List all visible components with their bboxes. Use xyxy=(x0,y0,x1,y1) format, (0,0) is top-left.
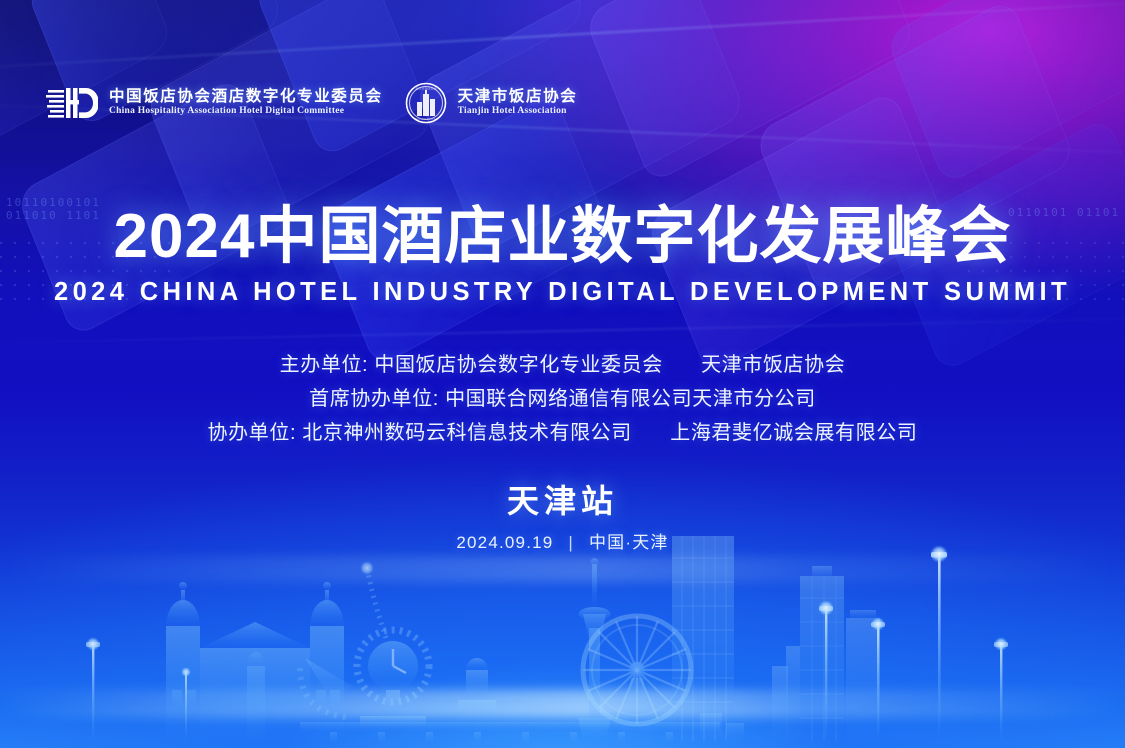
event-banner: 10110100101 011010 1101 0110101 01101 xyxy=(0,0,1125,748)
chief-coorganizer-label: 首席协办单位: xyxy=(309,388,439,410)
event-location: 中国·天津 xyxy=(589,533,669,552)
host-line: 主办单位: 中国饭店协会数字化专业委员会 天津市饭店协会 xyxy=(0,348,1125,382)
cha-logo-en-name: China Hospitality Association Hotel Digi… xyxy=(109,107,383,117)
tianjin-hotel-association-seal-icon: 天津市饭店协会 TIANJIN HOTEL xyxy=(405,82,447,124)
svg-text:TIANJIN HOTEL: TIANJIN HOTEL xyxy=(414,117,437,121)
svg-text:天津市饭店协会: 天津市饭店协会 xyxy=(415,85,437,90)
station-name: 天津站 xyxy=(0,484,1125,519)
organizer-logo-group: 中国饭店协会酒店数字化专业委员会 China Hospitality Assoc… xyxy=(46,82,577,124)
event-title-cn: 2024中国酒店业数字化发展峰会 xyxy=(0,206,1125,268)
host-org-1: 中国饭店协会数字化专业委员会 xyxy=(374,354,662,376)
coorganizer-label: 协办单位: xyxy=(208,422,297,444)
coorganizer-org-1: 北京神州数码云科信息技术有限公司 xyxy=(302,422,632,444)
tha-logo-cn-name: 天津市饭店协会 xyxy=(458,89,578,105)
station-date-line: 2024.09.19 | 中国·天津 xyxy=(0,528,1125,553)
headline-group: 2024中国酒店业数字化发展峰会 2024 CHINA HOTEL INDUST… xyxy=(0,206,1125,306)
cha-logo-cn-name: 中国饭店协会酒店数字化专业委员会 xyxy=(109,89,383,105)
cha-digital-committee-logo: 中国饭店协会酒店数字化专业委员会 China Hospitality Assoc… xyxy=(46,83,383,123)
event-date: 2024.09.19 xyxy=(456,533,553,552)
coorganizer-line: 协办单位: 北京神州数码云科信息技术有限公司 上海君斐亿诚会展有限公司 xyxy=(0,416,1125,450)
host-label: 主办单位: xyxy=(280,354,369,376)
chief-coorganizer-line: 首席协办单位: 中国联合网络通信有限公司天津市分公司 xyxy=(0,382,1125,416)
date-location-separator: | xyxy=(568,533,574,553)
xikai-church xyxy=(166,582,344,741)
cha-digital-committee-logo-icon xyxy=(46,83,98,123)
organizer-info-block: 主办单位: 中国饭店协会数字化专业委员会 天津市饭店协会 首席协办单位: 中国联… xyxy=(0,348,1125,450)
tianjin-hotel-association-logo: 天津市饭店协会 TIANJIN HOTEL 天津市饭店协会 Tianjin Ho… xyxy=(405,82,578,124)
haihe-bridge xyxy=(300,722,720,744)
station-block: 天津站 2024.09.19 | 中国·天津 xyxy=(0,484,1125,553)
coorganizer-org-2: 上海君斐亿诚会展有限公司 xyxy=(670,422,917,444)
event-title-en: 2024 CHINA HOTEL INDUSTRY DIGITAL DEVELO… xyxy=(0,280,1125,306)
chief-coorganizer-org: 中国联合网络通信有限公司天津市分公司 xyxy=(445,388,816,410)
host-org-2: 天津市饭店协会 xyxy=(701,354,845,376)
tha-logo-en-name: Tianjin Hotel Association xyxy=(458,107,578,117)
